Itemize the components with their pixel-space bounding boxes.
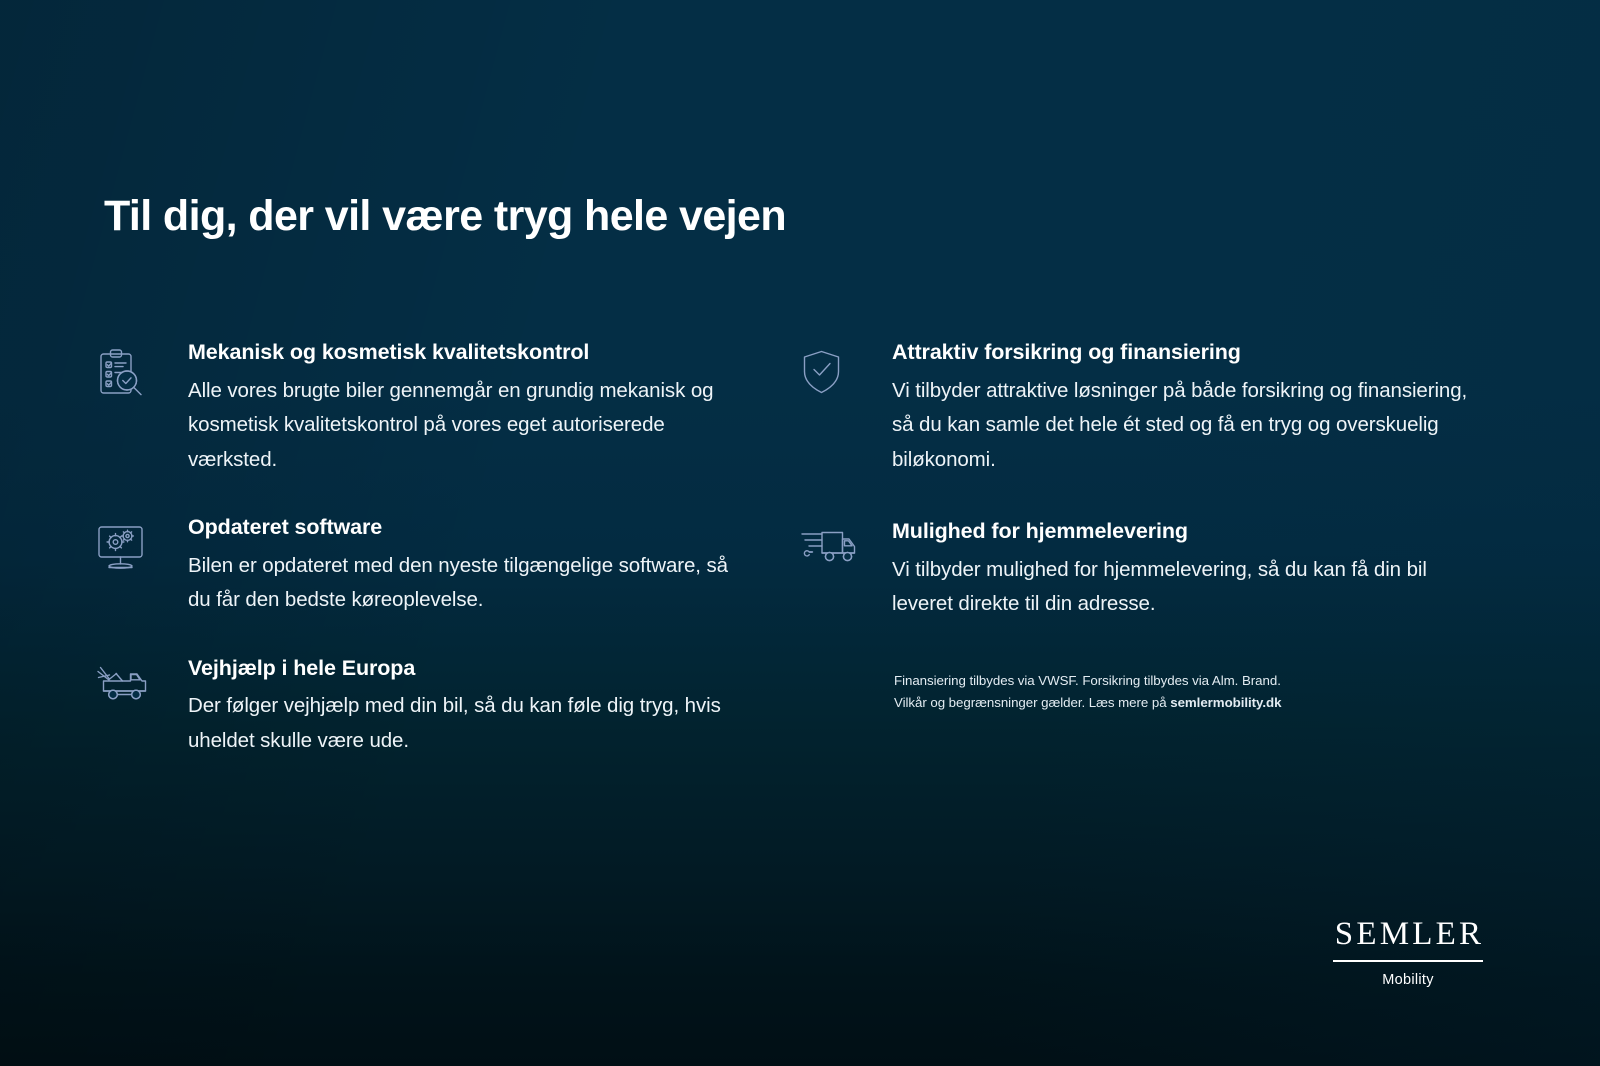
feature-description: Bilen er opdateret med den nyeste tilgæn…	[188, 549, 756, 618]
feature-text: Mulighed for hjemmelevering Vi tilbyder …	[862, 519, 1480, 622]
feature-description: Vi tilbyder mulighed for hjemmelevering,…	[892, 553, 1480, 622]
logo-wordmark: SEMLER	[1328, 918, 1488, 951]
feature-item-home-delivery: Mulighed for hjemmelevering Vi tilbyder …	[800, 519, 1480, 622]
clipboard-check-magnifier-icon	[96, 348, 158, 398]
tow-truck-icon	[96, 664, 158, 714]
promo-page: Til dig, der vil være tryg hele vejen	[0, 0, 1600, 1066]
feature-description: Der følger vejhjælp med din bil, så du k…	[188, 689, 756, 758]
feature-title: Vejhjælp i hele Europa	[188, 656, 756, 681]
feature-text: Vejhjælp i hele Europa Der følger vejhjæ…	[158, 656, 756, 759]
feature-title: Opdateret software	[188, 515, 756, 540]
feature-description: Vi tilbyder attraktive løsninger på både…	[892, 374, 1480, 477]
page-title: Til dig, der vil være tryg hele vejen	[104, 192, 786, 241]
logo-divider	[1333, 960, 1483, 962]
semler-mobility-logo: SEMLER Mobility	[1328, 918, 1488, 988]
disclaimer-line-1: Finansiering tilbydes via VWSF. Forsikri…	[894, 670, 1454, 692]
delivery-truck-icon	[800, 527, 862, 577]
disclaimer-line-2-text: Vilkår og begrænsninger gælder. Læs mere…	[894, 695, 1170, 710]
feature-title: Mulighed for hjemmelevering	[892, 519, 1480, 544]
disclaimer-line-2: Vilkår og begrænsninger gælder. Læs mere…	[894, 692, 1454, 714]
feature-text: Opdateret software Bilen er opdateret me…	[158, 515, 756, 618]
feature-item-roadside-assistance: Vejhjælp i hele Europa Der følger vejhjæ…	[96, 656, 756, 759]
feature-item-insurance-financing: Attraktiv forsikring og finansiering Vi …	[800, 340, 1480, 477]
feature-description: Alle vores brugte biler gennemgår en gru…	[188, 374, 756, 477]
logo-subtitle: Mobility	[1328, 972, 1488, 988]
feature-item-quality-control: Mekanisk og kosmetisk kvalitetskontrol A…	[96, 340, 756, 477]
feature-item-software: Opdateret software Bilen er opdateret me…	[96, 515, 756, 618]
feature-column-right: Attraktiv forsikring og finansiering Vi …	[800, 340, 1480, 664]
shield-check-icon	[800, 348, 862, 398]
disclaimer: Finansiering tilbydes via VWSF. Forsikri…	[894, 670, 1454, 713]
feature-title: Mekanisk og kosmetisk kvalitetskontrol	[188, 340, 756, 365]
feature-text: Attraktiv forsikring og finansiering Vi …	[862, 340, 1480, 477]
disclaimer-website-link[interactable]: semlermobility.dk	[1170, 695, 1281, 710]
feature-text: Mekanisk og kosmetisk kvalitetskontrol A…	[158, 340, 756, 477]
feature-title: Attraktiv forsikring og finansiering	[892, 340, 1480, 365]
feature-column-left: Mekanisk og kosmetisk kvalitetskontrol A…	[96, 340, 756, 796]
monitor-gears-icon	[96, 523, 158, 573]
